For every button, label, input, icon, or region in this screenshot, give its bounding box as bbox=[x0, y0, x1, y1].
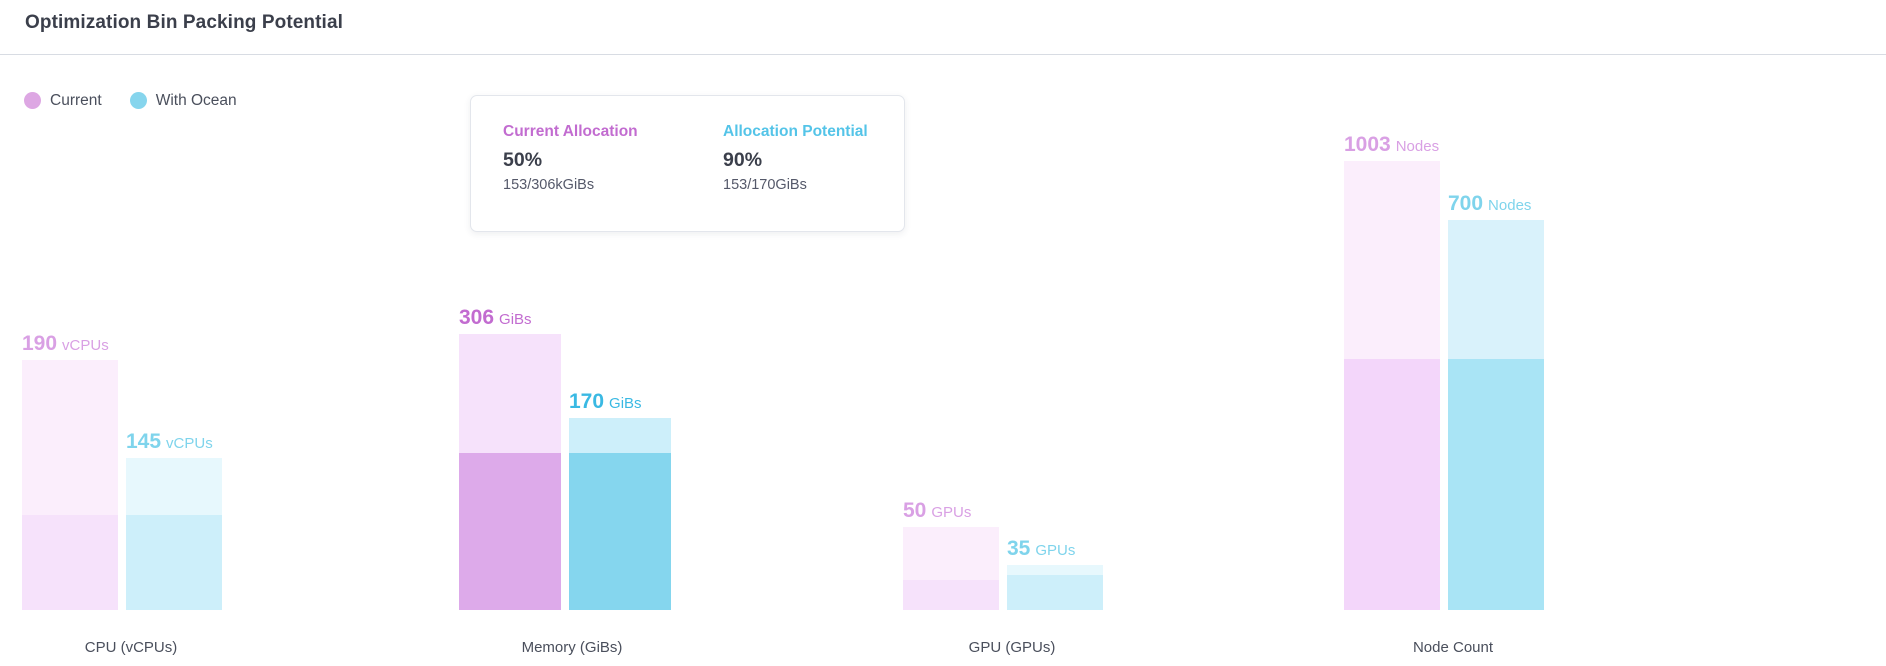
bar-unit-memory-with-ocean: GiBs bbox=[609, 395, 642, 412]
bar-segment-unused bbox=[1344, 161, 1440, 359]
bin-packing-chart-panel: Optimization Bin Packing Potential Curre… bbox=[0, 0, 1886, 666]
bar-group-memory[interactable]: 306GiBs 170GiBs Memory (GiBs) bbox=[441, 56, 703, 666]
bar-value-node-count-with-ocean: 700 bbox=[1448, 192, 1483, 215]
bar-segment-used bbox=[569, 453, 671, 610]
bar-cpu-current[interactable]: 190vCPUs bbox=[22, 360, 118, 610]
bar-value-gpu-with-ocean: 35 bbox=[1007, 537, 1030, 560]
bar-cpu-with-ocean[interactable]: 145vCPUs bbox=[126, 458, 222, 610]
panel-header: Optimization Bin Packing Potential bbox=[0, 0, 1886, 55]
bar-gpu-current[interactable]: 50GPUs bbox=[903, 527, 999, 610]
bar-group-gpu-bars: 50GPUs 35GPUs bbox=[881, 56, 1143, 610]
bar-caption-memory-current: 306GiBs bbox=[459, 307, 532, 328]
axis-label-gpu: GPU (GPUs) bbox=[881, 639, 1143, 656]
bar-value-cpu-with-ocean: 145 bbox=[126, 430, 161, 453]
bar-group-cpu[interactable]: 190vCPUs 145vCPUs CPU (vCPUs) bbox=[0, 56, 262, 666]
bar-caption-node-count-with-ocean: 700Nodes bbox=[1448, 193, 1531, 214]
bar-caption-cpu-current: 190vCPUs bbox=[22, 333, 109, 354]
bar-value-node-count-current: 1003 bbox=[1344, 133, 1391, 156]
bar-unit-cpu-current: vCPUs bbox=[62, 337, 109, 354]
bar-caption-cpu-with-ocean: 145vCPUs bbox=[126, 431, 213, 452]
bar-group-memory-bars: 306GiBs 170GiBs bbox=[441, 56, 703, 610]
bar-caption-memory-with-ocean: 170GiBs bbox=[569, 391, 642, 412]
bar-unit-memory-current: GiBs bbox=[499, 311, 532, 328]
bar-segment-unused bbox=[459, 334, 561, 453]
bar-unit-gpu-current: GPUs bbox=[931, 504, 971, 521]
bar-value-cpu-current: 190 bbox=[22, 332, 57, 355]
bar-segment-unused bbox=[22, 360, 118, 515]
bar-unit-node-count-current: Nodes bbox=[1396, 138, 1439, 155]
bar-gpu-with-ocean[interactable]: 35GPUs bbox=[1007, 565, 1103, 610]
axis-label-cpu: CPU (vCPUs) bbox=[0, 639, 262, 656]
bar-segment-used bbox=[1007, 575, 1103, 610]
bar-unit-node-count-with-ocean: Nodes bbox=[1488, 197, 1531, 214]
bar-memory-with-ocean[interactable]: 170GiBs bbox=[569, 418, 671, 610]
bar-value-memory-current: 306 bbox=[459, 306, 494, 329]
bar-node-count-current[interactable]: 1003Nodes bbox=[1344, 161, 1440, 610]
bar-group-cpu-bars: 190vCPUs 145vCPUs bbox=[0, 56, 262, 610]
bar-value-memory-with-ocean: 170 bbox=[569, 390, 604, 413]
bar-segment-used bbox=[1344, 359, 1440, 610]
page-title: Optimization Bin Packing Potential bbox=[25, 12, 343, 34]
bar-caption-gpu-with-ocean: 35GPUs bbox=[1007, 538, 1075, 559]
chart-plot-area: 190vCPUs 145vCPUs CPU (vCPUs) bbox=[0, 56, 1886, 666]
bar-segment-used bbox=[459, 453, 561, 610]
bar-caption-gpu-current: 50GPUs bbox=[903, 500, 971, 521]
bar-group-node-count[interactable]: 1003Nodes 700Nodes Node Count bbox=[1322, 56, 1584, 666]
bar-segment-used bbox=[903, 580, 999, 610]
bar-segment-used bbox=[1448, 359, 1544, 610]
bar-unit-gpu-with-ocean: GPUs bbox=[1035, 542, 1075, 559]
bar-caption-node-count-current: 1003Nodes bbox=[1344, 134, 1439, 155]
bar-unit-cpu-with-ocean: vCPUs bbox=[166, 435, 213, 452]
axis-label-memory: Memory (GiBs) bbox=[441, 639, 703, 656]
bar-segment-unused bbox=[903, 527, 999, 580]
bar-group-gpu[interactable]: 50GPUs 35GPUs GPU (GPUs) bbox=[881, 56, 1143, 666]
axis-label-node-count: Node Count bbox=[1322, 639, 1584, 656]
bar-segment-used bbox=[126, 515, 222, 610]
bar-value-gpu-current: 50 bbox=[903, 499, 926, 522]
bar-segment-unused bbox=[126, 458, 222, 515]
bar-segment-unused bbox=[1007, 565, 1103, 575]
bar-group-node-count-bars: 1003Nodes 700Nodes bbox=[1322, 56, 1584, 610]
bar-segment-unused bbox=[1448, 220, 1544, 359]
bar-node-count-with-ocean[interactable]: 700Nodes bbox=[1448, 220, 1544, 610]
bar-segment-unused bbox=[569, 418, 671, 453]
bar-segment-used bbox=[22, 515, 118, 610]
bar-memory-current[interactable]: 306GiBs bbox=[459, 334, 561, 610]
